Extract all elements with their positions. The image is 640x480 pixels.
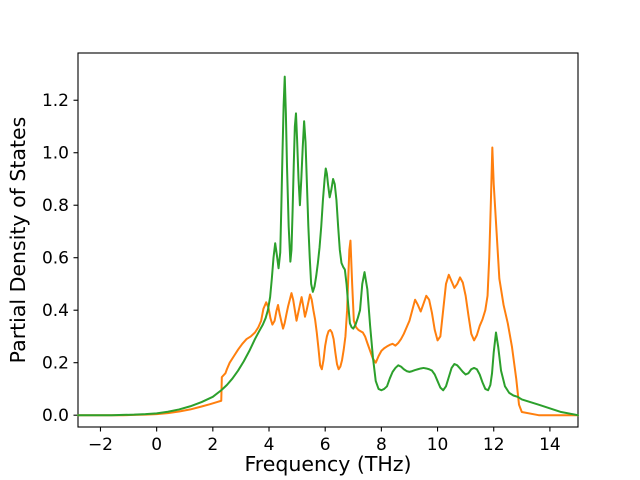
y-tick-label: 0.2 [42,354,69,374]
y-tick-label: 0.8 [42,196,69,216]
y-tick-label: 0.4 [42,301,69,321]
y-axis-title: Partial Density of States [6,117,30,364]
x-tick-label: 0 [151,435,162,455]
axes-frame [78,53,578,427]
x-tick-label: −2 [88,435,113,455]
x-tick-label: 12 [483,435,505,455]
data-series-series-2 [78,77,578,416]
y-tick-label: 1.2 [42,91,69,111]
y-tick-label: 0.0 [42,406,69,426]
chart-figure: −202468101214 0.00.20.40.60.81.01.2 Freq… [0,0,640,480]
plot-canvas: −202468101214 0.00.20.40.60.81.01.2 Freq… [0,0,640,480]
y-axis-ticks: 0.00.20.40.60.81.01.2 [42,91,78,426]
y-tick-label: 0.6 [42,249,69,269]
x-axis-ticks: −202468101214 [88,427,561,455]
x-tick-label: 2 [207,435,218,455]
x-tick-label: 10 [427,435,449,455]
x-axis-title: Frequency (THz) [244,452,411,476]
data-series-group [78,77,578,416]
plot-frame [78,53,578,427]
y-tick-label: 1.0 [42,144,69,164]
x-tick-label: 14 [539,435,561,455]
